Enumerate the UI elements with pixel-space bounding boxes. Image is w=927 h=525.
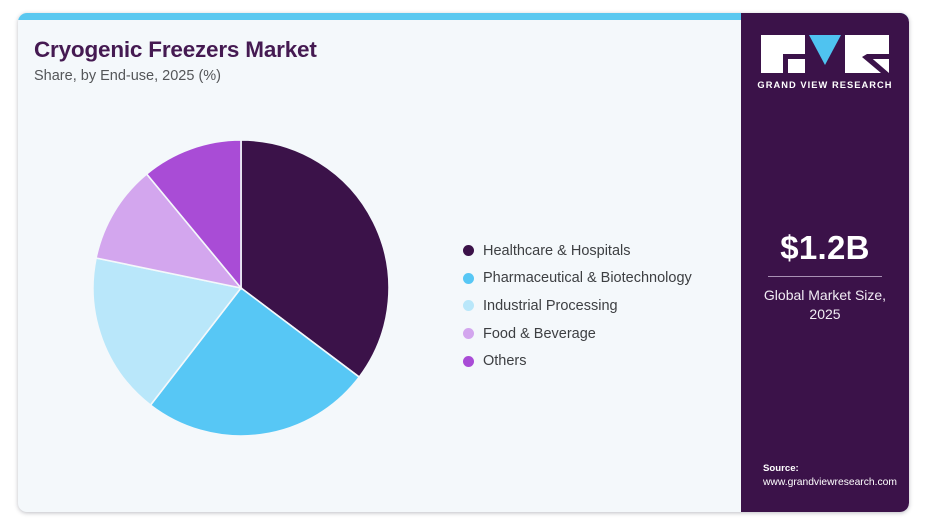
market-size-value: $1.2B <box>741 231 909 264</box>
legend-swatch-icon <box>463 328 474 339</box>
chart-legend: Healthcare & Hospitals Pharmaceutical & … <box>463 237 692 375</box>
pie-slice-group <box>93 140 389 436</box>
legend-swatch-icon <box>463 356 474 367</box>
chart-pane: Cryogenic Freezers Market Share, by End-… <box>18 13 741 512</box>
legend-item-label: Industrial Processing <box>483 298 618 314</box>
legend-item-label: Food & Beverage <box>483 326 596 342</box>
source-title: Source: <box>763 463 909 476</box>
source-url[interactable]: www.grandviewresearch.com <box>763 476 909 490</box>
legend-swatch-icon <box>463 300 474 311</box>
legend-item-others[interactable]: Others <box>463 347 692 375</box>
legend-item-label: Healthcare & Hospitals <box>483 243 631 259</box>
pie-chart-svg <box>91 138 391 438</box>
brand-logo[interactable]: GRAND VIEW RESEARCH <box>741 35 909 90</box>
legend-item-label: Others <box>483 353 527 369</box>
legend-item-label: Pharmaceutical & Biotechnology <box>483 270 692 286</box>
gvr-logo-mark-icon <box>761 35 889 73</box>
screenshot-root: Cryogenic Freezers Market Share, by End-… <box>0 0 927 525</box>
market-size-stat: $1.2B Global Market Size, 2025 <box>741 231 909 324</box>
legend-item-food-beverage[interactable]: Food & Beverage <box>463 320 692 348</box>
pie-chart <box>91 138 391 438</box>
page-title: Cryogenic Freezers Market <box>34 37 317 63</box>
source-block: Source: www.grandviewresearch.com <box>763 463 909 490</box>
page-subtitle: Share, by End-use, 2025 (%) <box>34 68 221 84</box>
market-size-label: Global Market Size, 2025 <box>741 286 909 324</box>
legend-swatch-icon <box>463 245 474 256</box>
legend-item-industrial-processing[interactable]: Industrial Processing <box>463 292 692 320</box>
legend-swatch-icon <box>463 273 474 284</box>
stat-divider <box>768 276 882 277</box>
legend-item-pharmaceutical-biotechnology[interactable]: Pharmaceutical & Biotechnology <box>463 265 692 293</box>
infographic-card: Cryogenic Freezers Market Share, by End-… <box>18 13 909 512</box>
brand-logo-text: GRAND VIEW RESEARCH <box>741 80 909 90</box>
legend-item-healthcare-hospitals[interactable]: Healthcare & Hospitals <box>463 237 692 265</box>
brand-panel: GRAND VIEW RESEARCH $1.2B Global Market … <box>741 13 909 512</box>
